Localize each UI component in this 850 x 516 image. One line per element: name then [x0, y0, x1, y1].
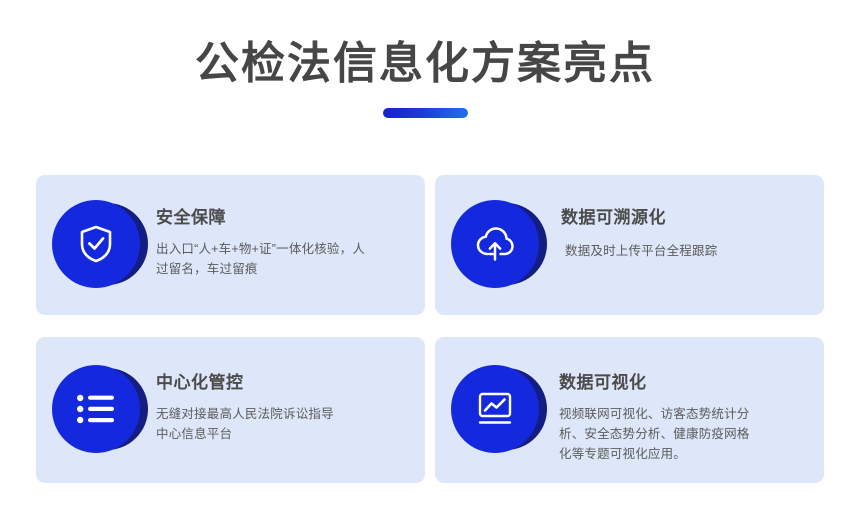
card-description: 视频联网可视化、访客态势统计分析、安全态势分析、健康防疫网格化等专题可视化应用。: [559, 404, 759, 464]
card-text: 安全保障 出入口“人+车+物+证”一体化核验，人过留名，车过留痕: [156, 175, 385, 279]
highlight-card-centralized-control[interactable]: 中心化管控 无缝对接最高人民法院诉讼指导中心信息平台: [36, 337, 425, 483]
icon-badge-circle: [451, 200, 539, 288]
highlight-card-security[interactable]: 安全保障 出入口“人+车+物+证”一体化核验，人过留名，车过留痕: [36, 175, 425, 315]
card-title: 数据可溯源化: [561, 207, 717, 229]
card-title: 中心化管控: [156, 372, 336, 394]
icon-badge-circle: [451, 365, 539, 453]
shield-check-icon: [78, 224, 114, 264]
card-description: 无缝对接最高人民法院诉讼指导中心信息平台: [156, 404, 336, 444]
card-description: 出入口“人+车+物+证”一体化核验，人过留名，车过留痕: [156, 239, 371, 279]
highlights-page: 公检法信息化方案亮点 安全保障 出入口“人+车+物+证”一体化核验，人: [0, 0, 850, 516]
page-header: 公检法信息化方案亮点: [0, 0, 850, 118]
highlight-card-data-visualization[interactable]: 数据可视化 视频联网可视化、访客态势统计分析、安全态势分析、健康防疫网格化等专题…: [435, 337, 824, 483]
page-title: 公检法信息化方案亮点: [0, 38, 850, 90]
card-title: 安全保障: [156, 207, 371, 229]
card-description: 数据及时上传平台全程跟踪: [565, 241, 717, 261]
card-text: 数据可溯源化 数据及时上传平台全程跟踪: [559, 175, 731, 261]
icon-badge: [451, 365, 543, 457]
title-underline-bar: [383, 108, 468, 118]
highlight-card-data-traceability[interactable]: 数据可溯源化 数据及时上传平台全程跟踪: [435, 175, 824, 315]
highlight-cards-grid: 安全保障 出入口“人+车+物+证”一体化核验，人过留名，车过留痕: [36, 175, 824, 483]
icon-badge: [52, 365, 144, 457]
icon-badge: [451, 200, 543, 292]
card-title: 数据可视化: [559, 372, 759, 394]
icon-badge-circle: [52, 200, 140, 288]
card-text: 数据可视化 视频联网可视化、访客态势统计分析、安全态势分析、健康防疫网格化等专题…: [559, 337, 773, 464]
chart-monitor-icon: [475, 391, 515, 427]
icon-badge-circle: [52, 365, 140, 453]
bullet-list-icon: [76, 393, 116, 425]
icon-badge: [52, 200, 144, 292]
cloud-upload-icon: [474, 225, 516, 263]
card-text: 中心化管控 无缝对接最高人民法院诉讼指导中心信息平台: [156, 337, 350, 444]
